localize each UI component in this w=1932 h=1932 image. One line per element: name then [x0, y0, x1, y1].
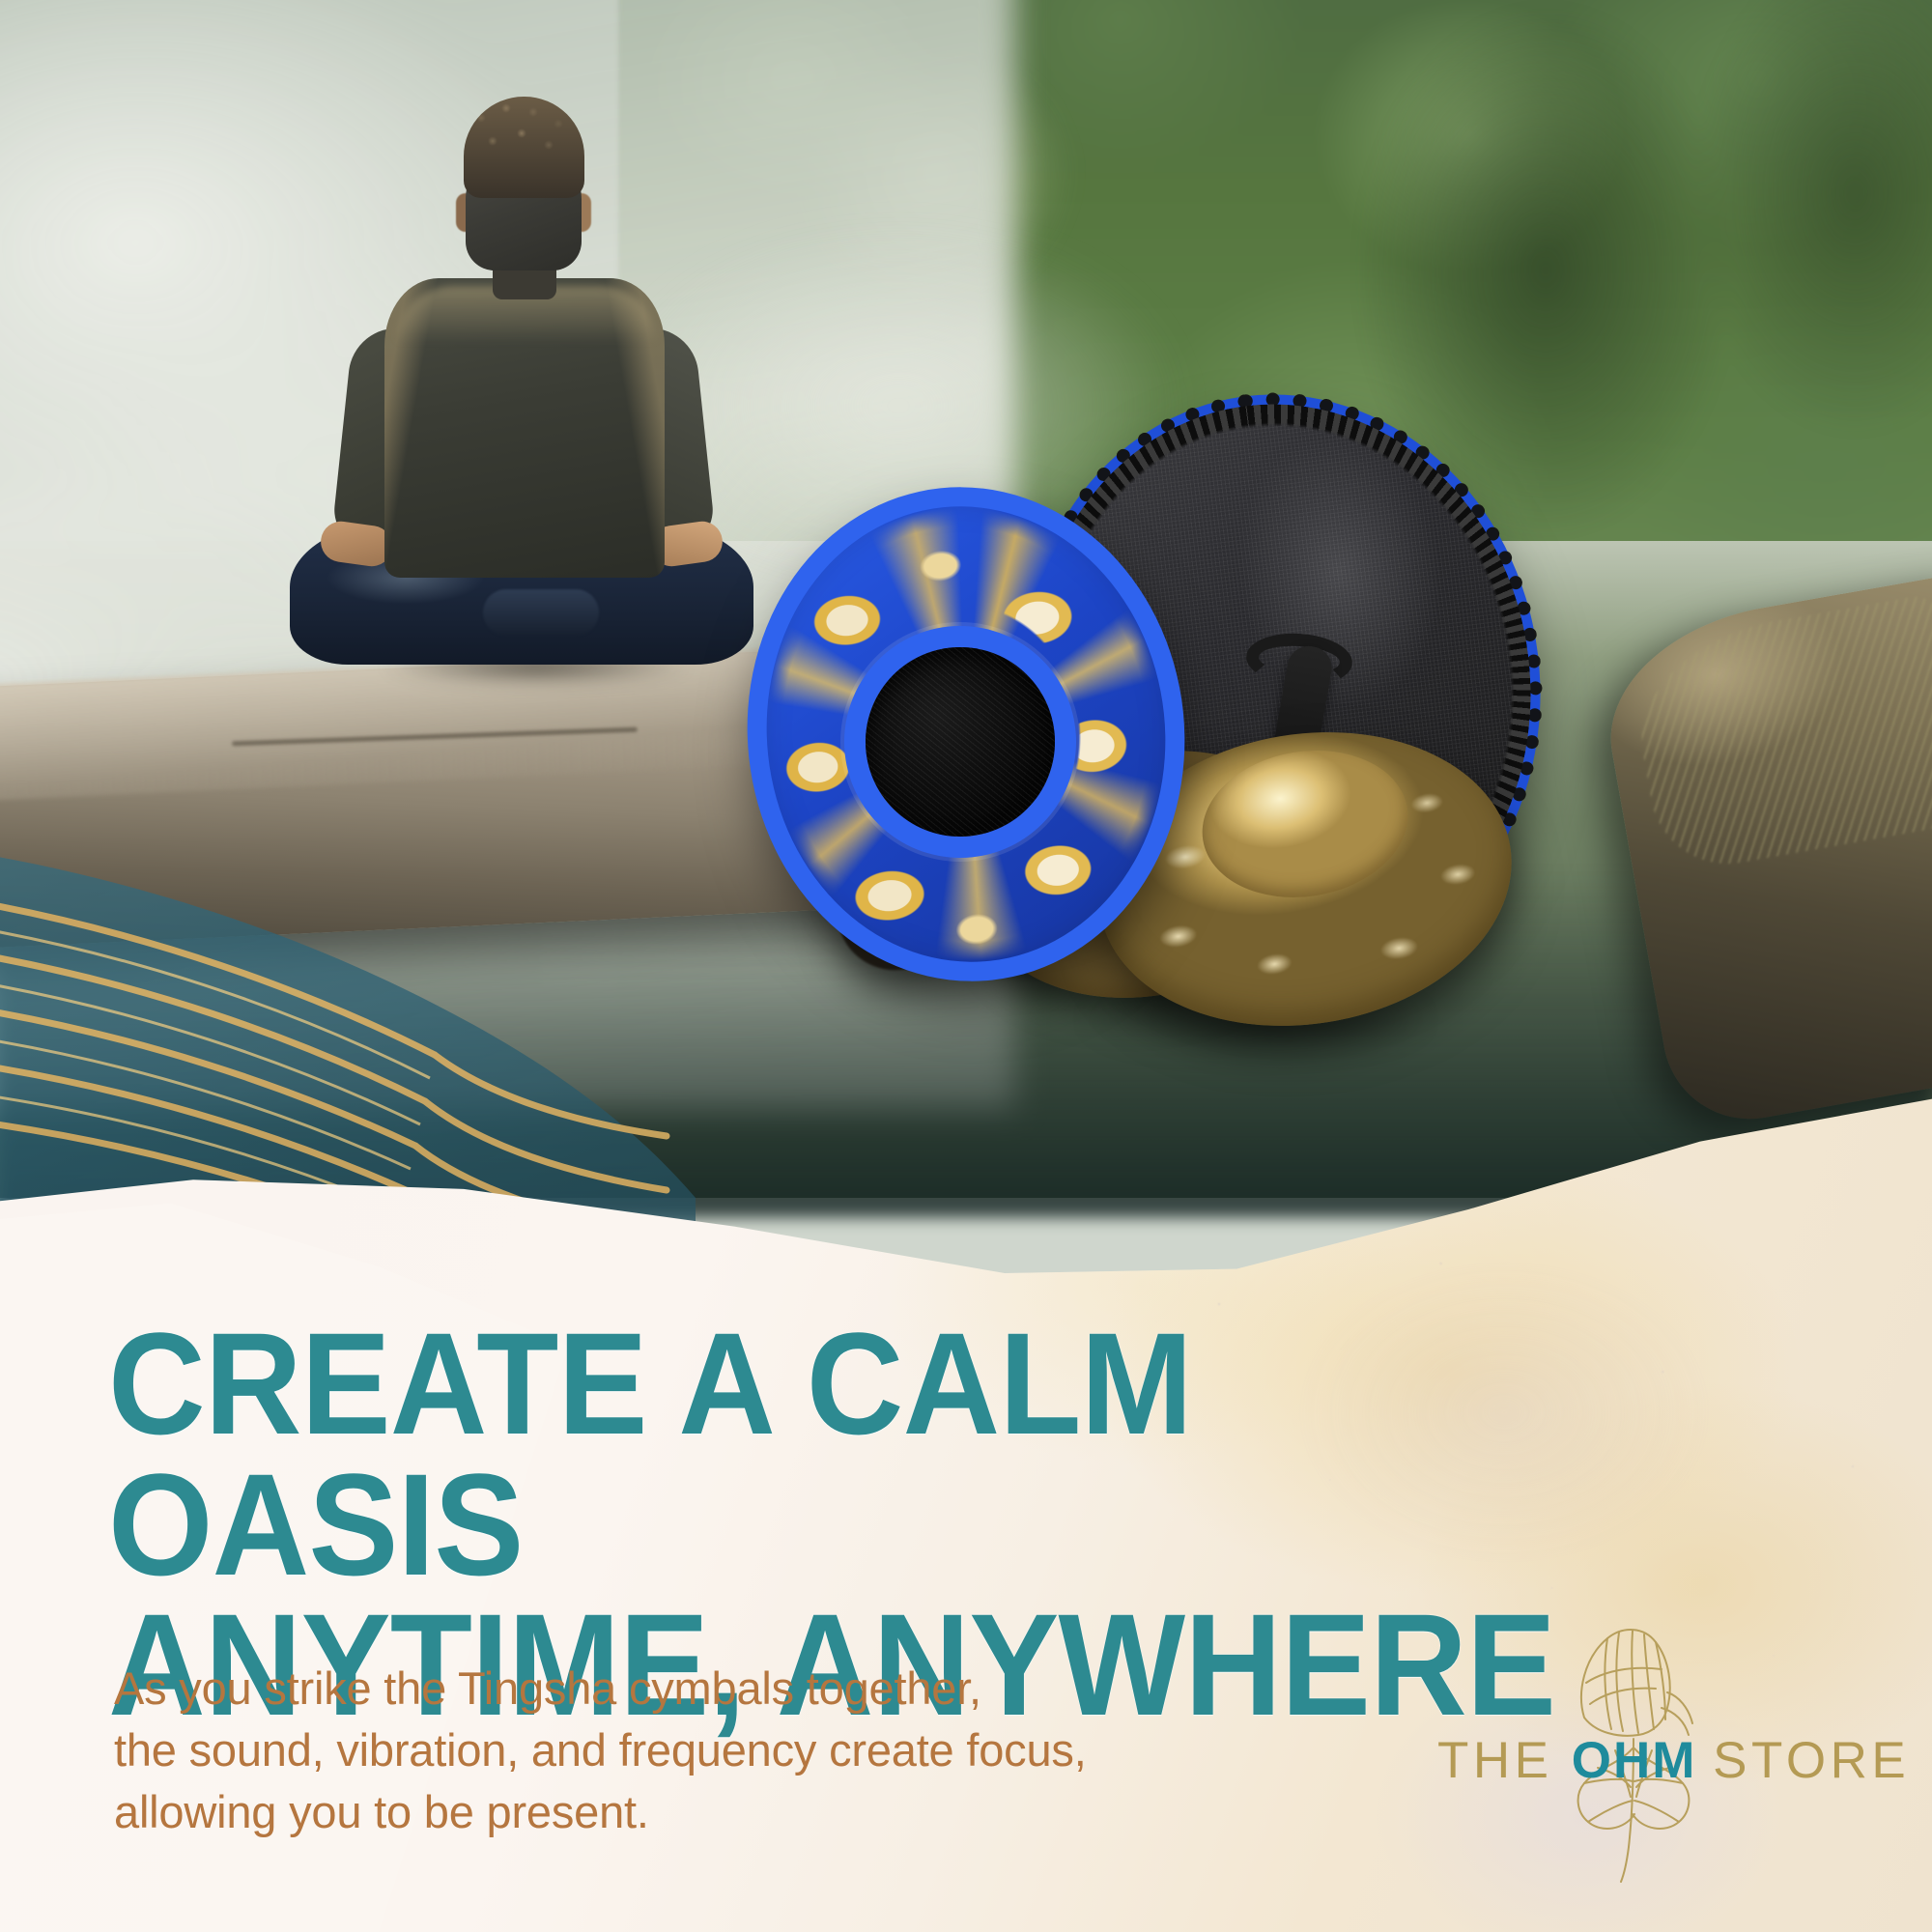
brand-wordmark: THE OHM STORE	[1437, 1731, 1891, 1790]
logo-the-text: THE	[1437, 1732, 1572, 1789]
product-marketing-poster: CREATE A CALM OASIS ANYTIME, ANYWHERE As…	[0, 0, 1932, 1932]
logo-ohm-text: OHM	[1572, 1732, 1713, 1789]
meditating-person	[319, 87, 724, 667]
brand-logo[interactable]: THE OHM STORE	[1437, 1604, 1891, 1884]
person-hair	[464, 97, 584, 198]
product-group	[927, 415, 1642, 1130]
logo-store-text: STORE	[1713, 1732, 1910, 1789]
product-description: As you strike the Tingsha cymbals togeth…	[114, 1658, 1321, 1843]
person-foot	[483, 589, 599, 636]
